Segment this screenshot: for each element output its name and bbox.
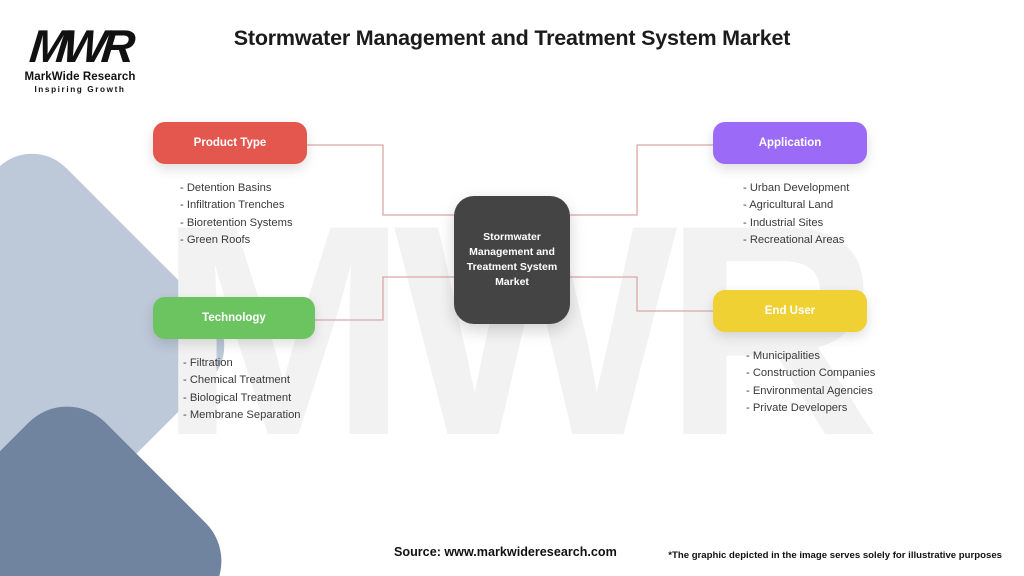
branch-product-type-header[interactable]: Product Type bbox=[153, 122, 307, 164]
list-item: - Industrial Sites bbox=[743, 215, 867, 232]
list-item: - Environmental Agencies bbox=[746, 383, 867, 400]
source-label: Source: www.markwideresearch.com bbox=[394, 545, 617, 559]
branch-end-user-header[interactable]: End User bbox=[713, 290, 867, 332]
connector-technology bbox=[315, 277, 454, 320]
list-item: - Chemical Treatment bbox=[183, 372, 315, 389]
connector-application bbox=[570, 145, 713, 215]
connector-end-user bbox=[570, 277, 713, 311]
list-item: - Construction Companies bbox=[746, 365, 867, 382]
list-item: - Bioretention Systems bbox=[180, 215, 307, 232]
branch-product-type-list: - Detention Basins - Infiltration Trench… bbox=[153, 180, 307, 250]
list-item: - Filtration bbox=[183, 355, 315, 372]
branch-product-type: Product Type - Detention Basins - Infilt… bbox=[153, 122, 307, 266]
list-item: - Green Roofs bbox=[180, 232, 307, 249]
infographic-canvas: MWR MWR MarkWide Research Inspiring Grow… bbox=[0, 0, 1024, 576]
branch-end-user-list: - Municipalities - Construction Companie… bbox=[713, 348, 867, 418]
disclaimer-label: *The graphic depicted in the image serve… bbox=[668, 550, 1002, 561]
list-item: - Infiltration Trenches bbox=[180, 197, 307, 214]
list-item: - Municipalities bbox=[746, 348, 867, 365]
center-node: Stormwater Management and Treatment Syst… bbox=[454, 196, 570, 324]
branch-application: Application - Urban Development - Agricu… bbox=[713, 122, 867, 266]
list-item: - Agricultural Land bbox=[743, 197, 867, 214]
list-item: - Detention Basins bbox=[180, 180, 307, 197]
center-node-label: Stormwater Management and Treatment Syst… bbox=[464, 230, 560, 291]
branch-technology: Technology - Filtration - Chemical Treat… bbox=[153, 297, 315, 441]
list-item: - Recreational Areas bbox=[743, 232, 867, 249]
branch-technology-header[interactable]: Technology bbox=[153, 297, 315, 339]
connector-product-type bbox=[307, 145, 454, 215]
branch-end-user: End User - Municipalities - Construction… bbox=[713, 290, 867, 434]
branch-technology-list: - Filtration - Chemical Treatment - Biol… bbox=[153, 355, 315, 425]
list-item: - Urban Development bbox=[743, 180, 867, 197]
branch-application-header[interactable]: Application bbox=[713, 122, 867, 164]
list-item: - Biological Treatment bbox=[183, 390, 315, 407]
branch-application-list: - Urban Development - Agricultural Land … bbox=[713, 180, 867, 250]
list-item: - Private Developers bbox=[746, 400, 867, 417]
list-item: - Membrane Separation bbox=[183, 407, 315, 424]
